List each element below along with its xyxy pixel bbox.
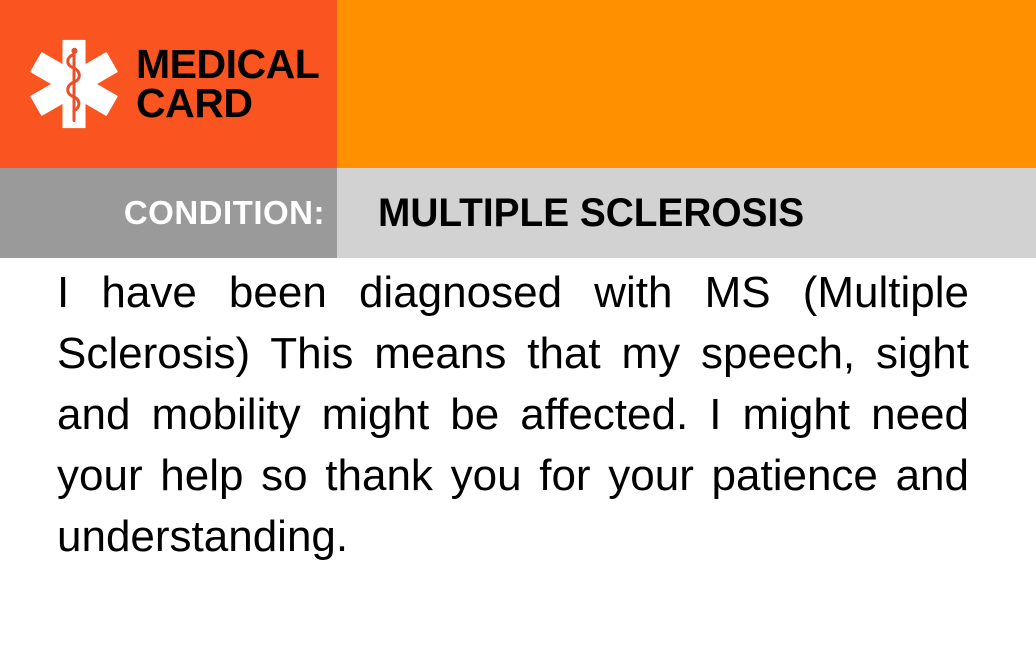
medical-card: MEDICAL CARD CONDITION: MULTIPLE SCLEROS… [0, 0, 1036, 660]
star-of-life-icon [26, 36, 122, 132]
brand-title-line-1: MEDICAL [136, 45, 319, 84]
brand-title: MEDICAL CARD [136, 45, 319, 123]
condition-label-cell: CONDITION: [0, 168, 337, 258]
condition-value-cell: MULTIPLE SCLEROSIS [337, 168, 1036, 258]
header-accent-panel [337, 0, 1036, 168]
condition-description: I have been diagnosed with MS (Multiple … [57, 262, 969, 628]
card-header: MEDICAL CARD [0, 0, 1036, 168]
brand-title-line-2: CARD [136, 84, 319, 123]
condition-bar: CONDITION: MULTIPLE SCLEROSIS [0, 168, 1036, 258]
condition-label: CONDITION: [124, 194, 325, 232]
brand-panel: MEDICAL CARD [0, 0, 337, 168]
condition-value: MULTIPLE SCLEROSIS [378, 191, 804, 236]
card-body: I have been diagnosed with MS (Multiple … [57, 262, 969, 642]
